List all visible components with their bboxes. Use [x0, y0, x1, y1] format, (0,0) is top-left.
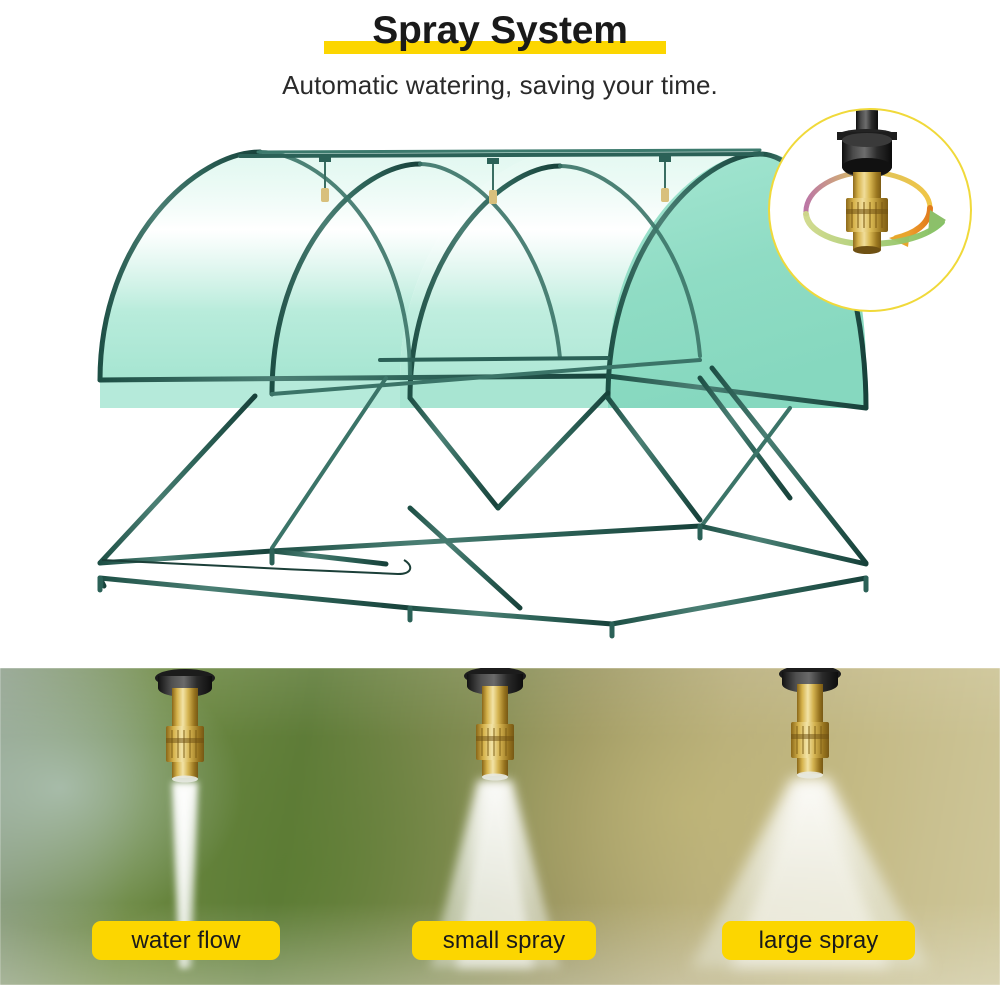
label-water-flow: water flow: [92, 921, 280, 960]
frame-feet: [100, 526, 866, 636]
product-marketing-image: Spray System Automatic watering, saving …: [0, 0, 1000, 1000]
page-subtitle: Automatic watering, saving your time.: [0, 70, 1000, 101]
label-water-flow-text: water flow: [131, 927, 240, 955]
ridge-poles: [240, 150, 762, 156]
page-title: Spray System: [372, 8, 628, 54]
nozzle-detail-callout: [768, 108, 972, 312]
label-large-spray-text: large spray: [759, 927, 879, 955]
nozzle-detail-illustration: [770, 110, 966, 306]
label-small-spray: small spray: [412, 921, 596, 960]
bottom-white-margin: [0, 985, 1000, 1000]
label-small-spray-text: small spray: [443, 927, 565, 955]
title-block: Spray System: [0, 8, 1000, 54]
header-section: Spray System Automatic watering, saving …: [0, 0, 1000, 120]
label-large-spray: large spray: [722, 921, 915, 960]
